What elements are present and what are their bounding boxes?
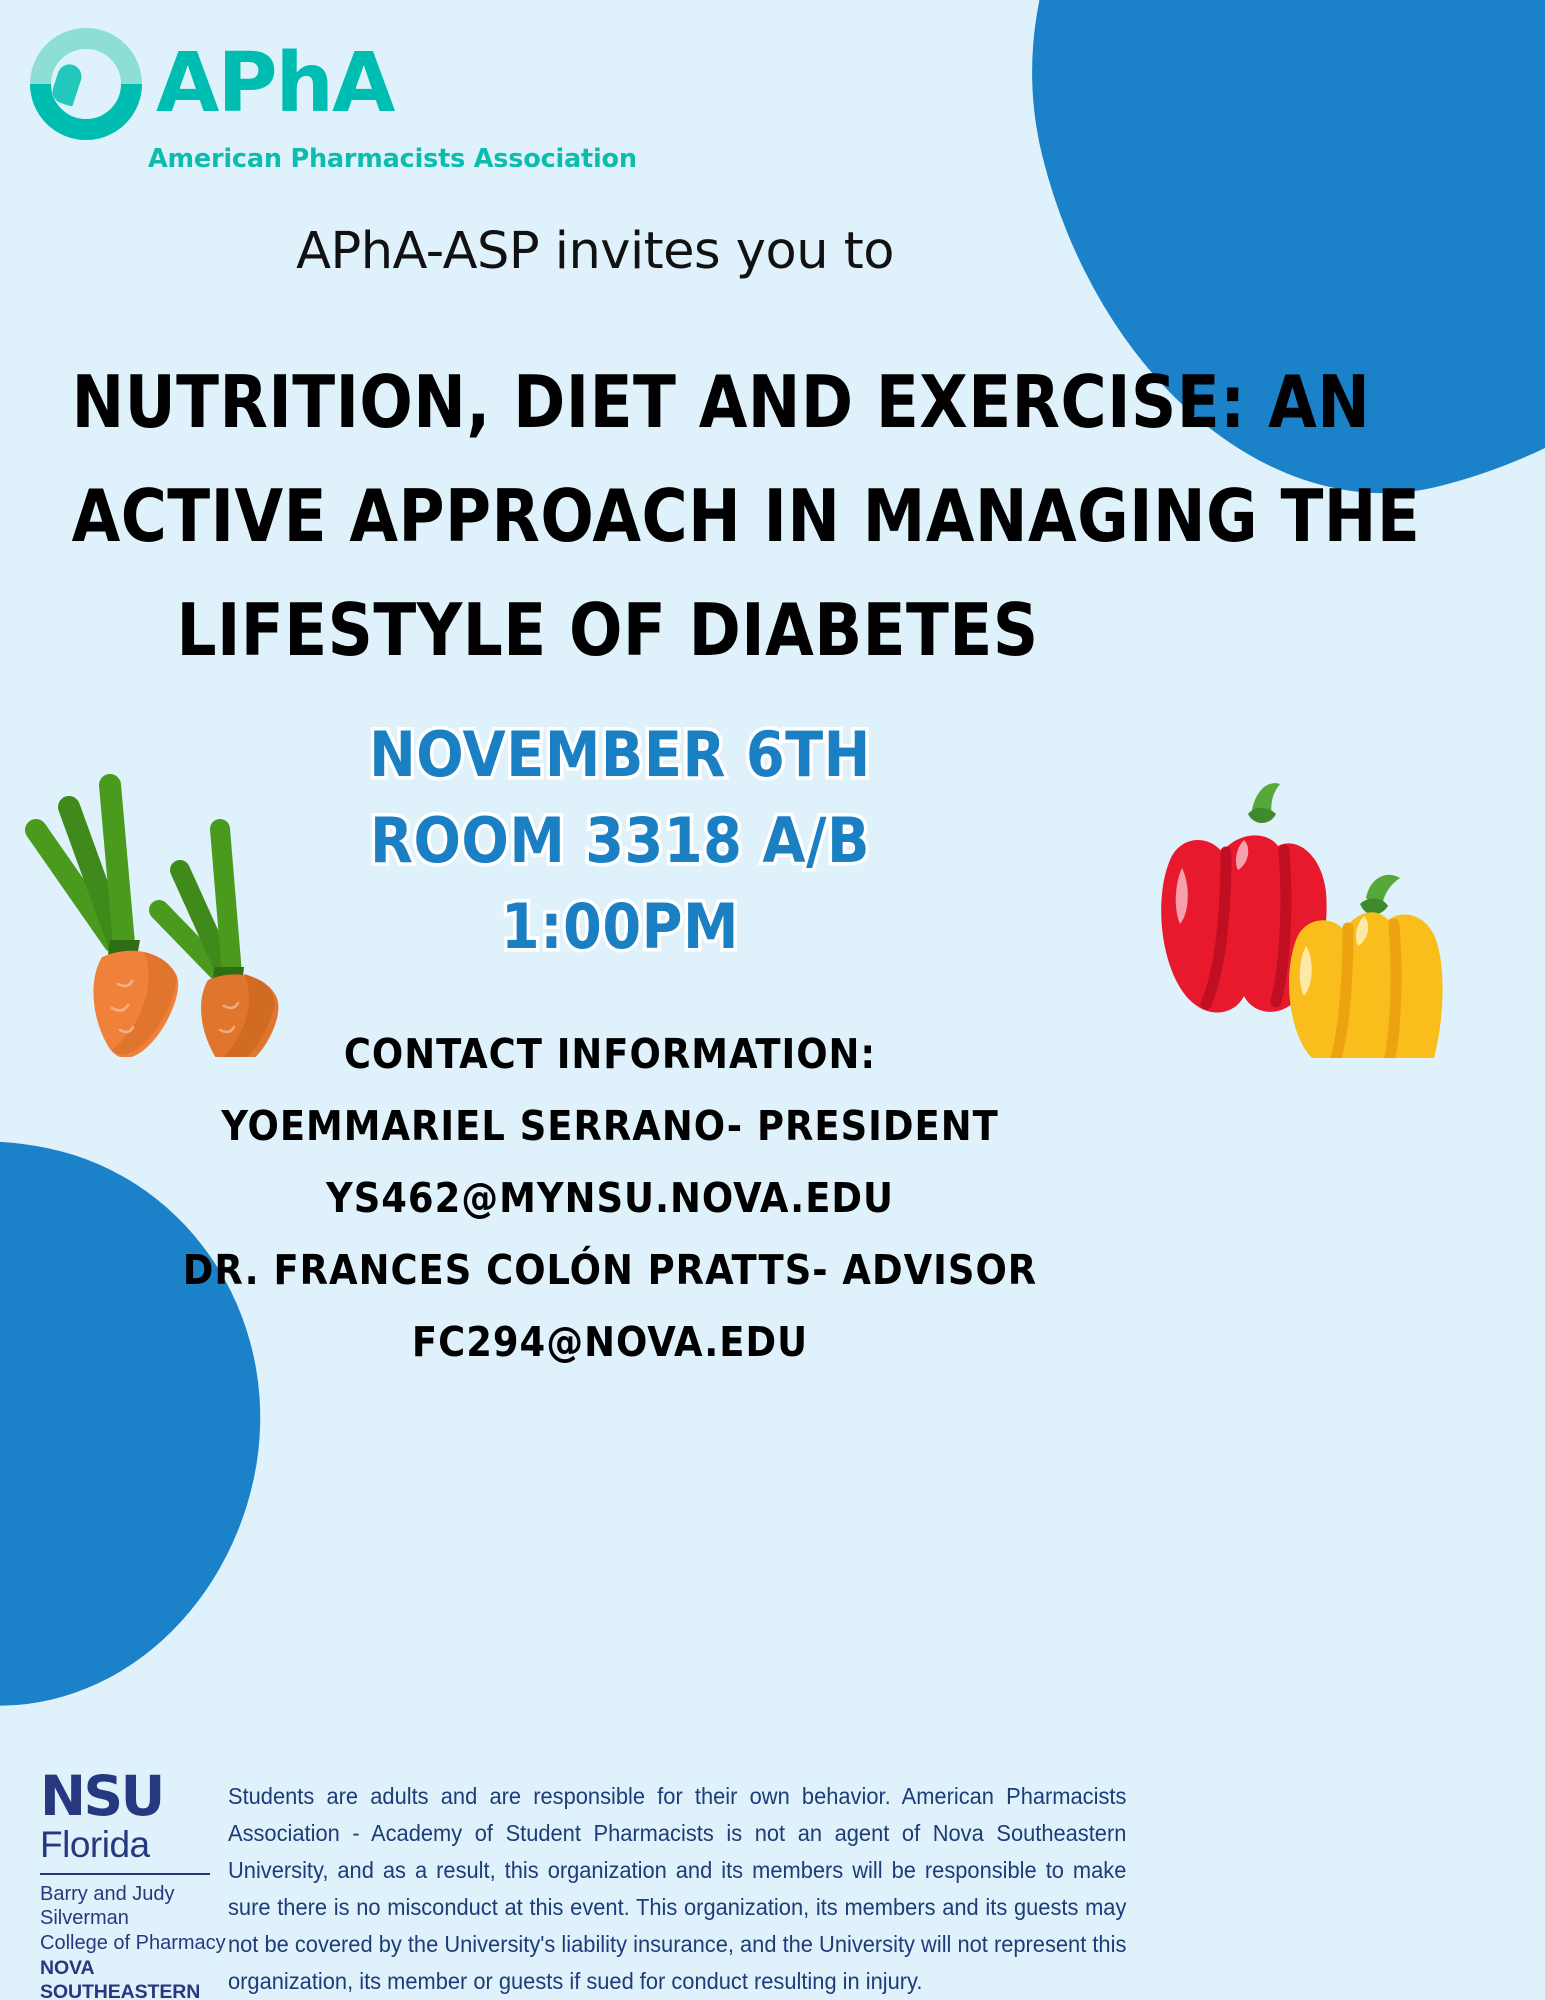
contact-information: CONTACT INFORMATION: YOEMMARIEL SERRANO-… bbox=[170, 1018, 1050, 1378]
event-location: ROOM 3318 A/B bbox=[355, 798, 885, 884]
disclaimer-text: Students are adults and are responsible … bbox=[228, 1778, 1126, 2000]
contact-advisor-email: FC294@NOVA.EDU bbox=[170, 1306, 1050, 1378]
apha-wordmark: APhA bbox=[156, 43, 393, 125]
contact-heading: CONTACT INFORMATION: bbox=[170, 1018, 1050, 1090]
page-title: NUTRITION, DIET AND EXERCISE: AN ACTIVE … bbox=[72, 345, 1144, 687]
event-time: 1:00PM bbox=[355, 884, 885, 970]
nsu-logo: NSU Florida Barry and Judy Silverman Col… bbox=[40, 1768, 255, 2000]
apha-tagline: American Pharmacists Association bbox=[148, 144, 650, 174]
title-line-3: LIFESTYLE OF DIABETES bbox=[72, 573, 1144, 687]
nsu-wordmark: NSU bbox=[40, 1768, 255, 1824]
nsu-university-line-1: NOVA SOUTHEASTERN bbox=[40, 1956, 255, 2000]
apha-logo: APhA American Pharmacists Association bbox=[30, 28, 650, 183]
title-line-1: NUTRITION, DIET AND EXERCISE: AN bbox=[72, 345, 1144, 459]
nsu-college-line-2: College of Pharmacy bbox=[40, 1931, 255, 1956]
invite-line: APhA-ASP invites you to bbox=[0, 222, 1190, 281]
contact-president: YOEMMARIEL SERRANO- PRESIDENT bbox=[170, 1090, 1050, 1162]
carrots-illustration bbox=[14, 712, 344, 1057]
nsu-divider bbox=[40, 1873, 210, 1875]
event-flyer: APhA American Pharmacists Association AP… bbox=[0, 0, 1545, 2000]
apha-circle-mortar-logo-icon bbox=[30, 28, 142, 140]
nsu-state: Florida bbox=[40, 1824, 255, 1865]
contact-president-email: YS462@MYNSU.NOVA.EDU bbox=[170, 1162, 1050, 1234]
contact-advisor: DR. FRANCES COLÓN PRATTS- ADVISOR bbox=[170, 1234, 1050, 1306]
nsu-college-line-1: Barry and Judy Silverman bbox=[40, 1882, 255, 1932]
event-date: NOVEMBER 6TH bbox=[355, 712, 885, 798]
peppers-illustration bbox=[1148, 768, 1448, 1058]
title-line-2: ACTIVE APPROACH IN MANAGING THE bbox=[72, 459, 1144, 573]
event-details: NOVEMBER 6TH ROOM 3318 A/B 1:00PM bbox=[355, 712, 885, 970]
